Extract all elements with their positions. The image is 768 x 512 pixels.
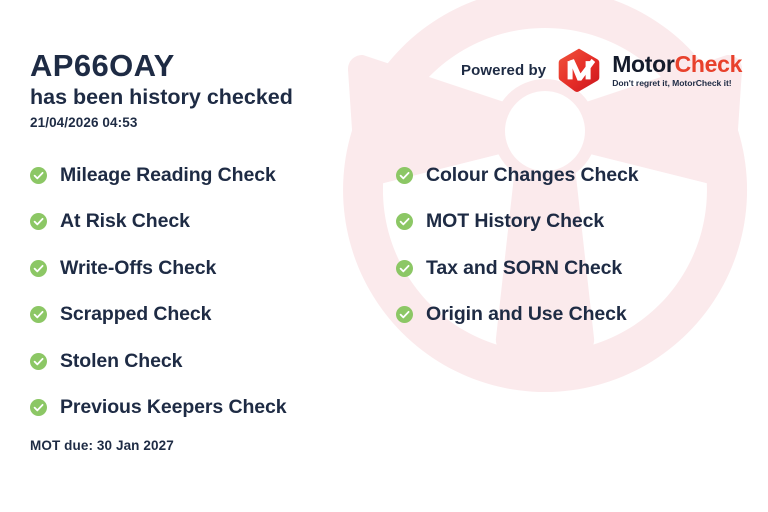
powered-by-motorcheck-lockup: Powered by MotorCheck Don't regret it <box>461 47 742 93</box>
check-item: Scrapped Check <box>30 292 287 339</box>
history-check-summary-card: AP66OAY has been history checked 21/04/2… <box>0 0 768 512</box>
card-content: AP66OAY has been history checked 21/04/2… <box>0 0 768 512</box>
wordmark-motor: Motor <box>612 51 674 77</box>
check-item-label: At Risk Check <box>60 210 190 233</box>
green-circle-check-icon <box>30 353 47 370</box>
check-timestamp: 21/04/2026 04:53 <box>30 115 137 130</box>
green-circle-check-icon <box>30 306 47 323</box>
brand-tagline: Don't regret it, MotorCheck it! <box>612 79 742 88</box>
check-list-right: Colour Changes Check MOT History Check T… <box>396 152 639 338</box>
check-item: MOT History Check <box>396 199 639 246</box>
check-item: Origin and Use Check <box>396 292 639 339</box>
green-circle-check-icon <box>30 213 47 230</box>
check-item-label: Write-Offs Check <box>60 257 216 280</box>
green-circle-check-icon <box>396 213 413 230</box>
check-item-label: Stolen Check <box>60 350 182 373</box>
check-item: Mileage Reading Check <box>30 152 287 199</box>
check-item-label: MOT History Check <box>426 210 604 233</box>
green-circle-check-icon <box>396 306 413 323</box>
check-list-left: Mileage Reading Check At Risk Check Writ… <box>30 152 287 431</box>
check-item-label: Origin and Use Check <box>426 303 627 326</box>
check-item: Stolen Check <box>30 338 287 385</box>
mot-due-text: MOT due: 30 Jan 2027 <box>30 438 174 453</box>
powered-by-label: Powered by <box>461 62 546 79</box>
check-item: Previous Keepers Check <box>30 385 287 432</box>
wordmark-text: MotorCheck <box>612 53 742 76</box>
check-item: At Risk Check <box>30 199 287 246</box>
vehicle-registration: AP66OAY <box>30 50 175 83</box>
check-item: Tax and SORN Check <box>396 245 639 292</box>
green-circle-check-icon <box>30 260 47 277</box>
green-circle-check-icon <box>396 260 413 277</box>
check-item-label: Tax and SORN Check <box>426 257 622 280</box>
check-item-label: Mileage Reading Check <box>60 164 276 187</box>
check-item: Colour Changes Check <box>396 152 639 199</box>
page-title: has been history checked <box>30 86 293 110</box>
green-circle-check-icon <box>30 167 47 184</box>
wordmark-check: Check <box>675 51 743 77</box>
motorcheck-hexagon-m-check-icon <box>556 47 602 93</box>
check-item-label: Scrapped Check <box>60 303 211 326</box>
green-circle-check-icon <box>396 167 413 184</box>
check-item: Write-Offs Check <box>30 245 287 292</box>
check-item-label: Colour Changes Check <box>426 164 639 187</box>
motorcheck-wordmark: MotorCheck Don't regret it, MotorCheck i… <box>612 53 742 88</box>
check-item-label: Previous Keepers Check <box>60 396 287 419</box>
green-circle-check-icon <box>30 399 47 416</box>
